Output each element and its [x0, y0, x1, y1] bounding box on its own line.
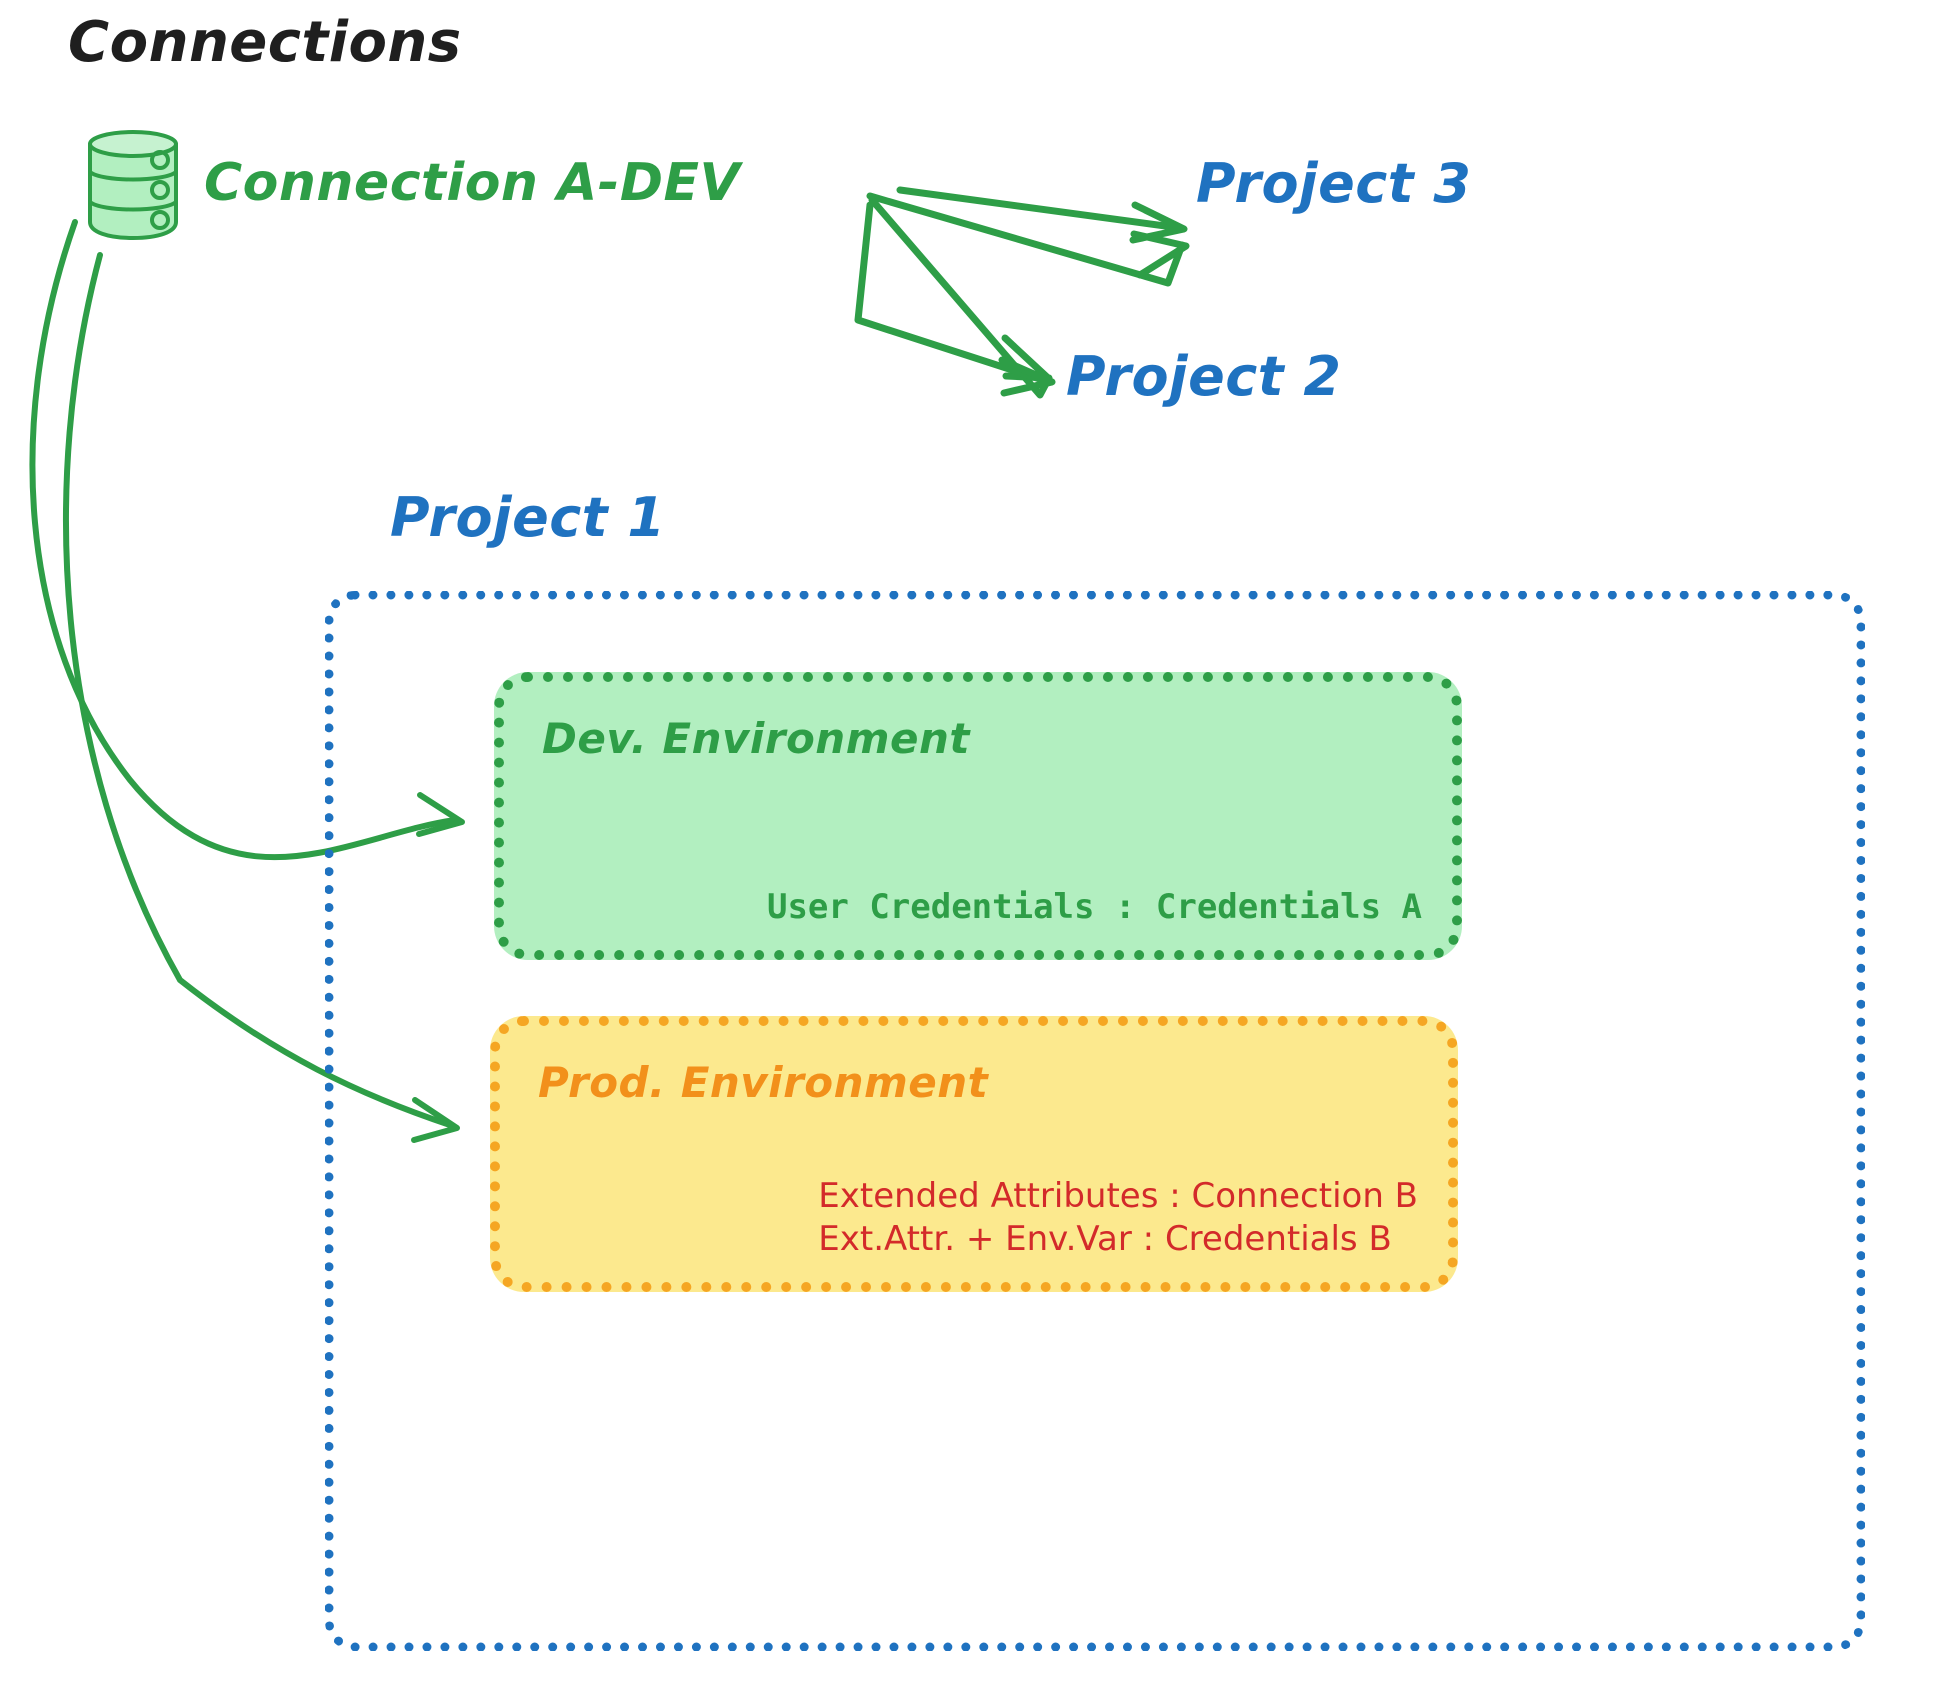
page-title: Connections [68, 10, 462, 75]
arrow-conn-to-project3-a [900, 190, 1184, 240]
arrow-conn-to-project2-a [872, 200, 1049, 395]
arrow-conn-to-project2-b [858, 205, 1052, 393]
database-cylinder-icon [78, 122, 188, 244]
diagram-canvas: Connections [0, 0, 1938, 1691]
dev-environment-details: User Credentials : Credentials A [767, 886, 1422, 930]
dev-environment-title: Dev. Environment [542, 714, 970, 763]
project-3-label[interactable]: Project 3 [1196, 152, 1471, 215]
prod-environment-title: Prod. Environment [538, 1058, 988, 1107]
prod-environment-details: Extended Attributes : Connection B Ext.A… [818, 1175, 1418, 1262]
project-2-label[interactable]: Project 2 [1066, 345, 1341, 408]
arrow-conn-to-project3-b [870, 196, 1186, 283]
connection-a-dev[interactable]: Connection A-DEV [78, 122, 740, 244]
dev-environment-box[interactable]: Dev. Environment User Credentials : Cred… [494, 672, 1462, 960]
prod-environment-box[interactable]: Prod. Environment Extended Attributes : … [490, 1016, 1458, 1292]
dev-user-credentials-line: User Credentials : Credentials A [767, 886, 1422, 930]
prod-extended-attributes-line: Extended Attributes : Connection B [818, 1175, 1418, 1219]
project-1-label[interactable]: Project 1 [390, 486, 665, 549]
connection-a-dev-label: Connection A-DEV [204, 153, 740, 213]
prod-ext-attr-env-var-line: Ext.Attr. + Env.Var : Credentials B [818, 1218, 1418, 1262]
